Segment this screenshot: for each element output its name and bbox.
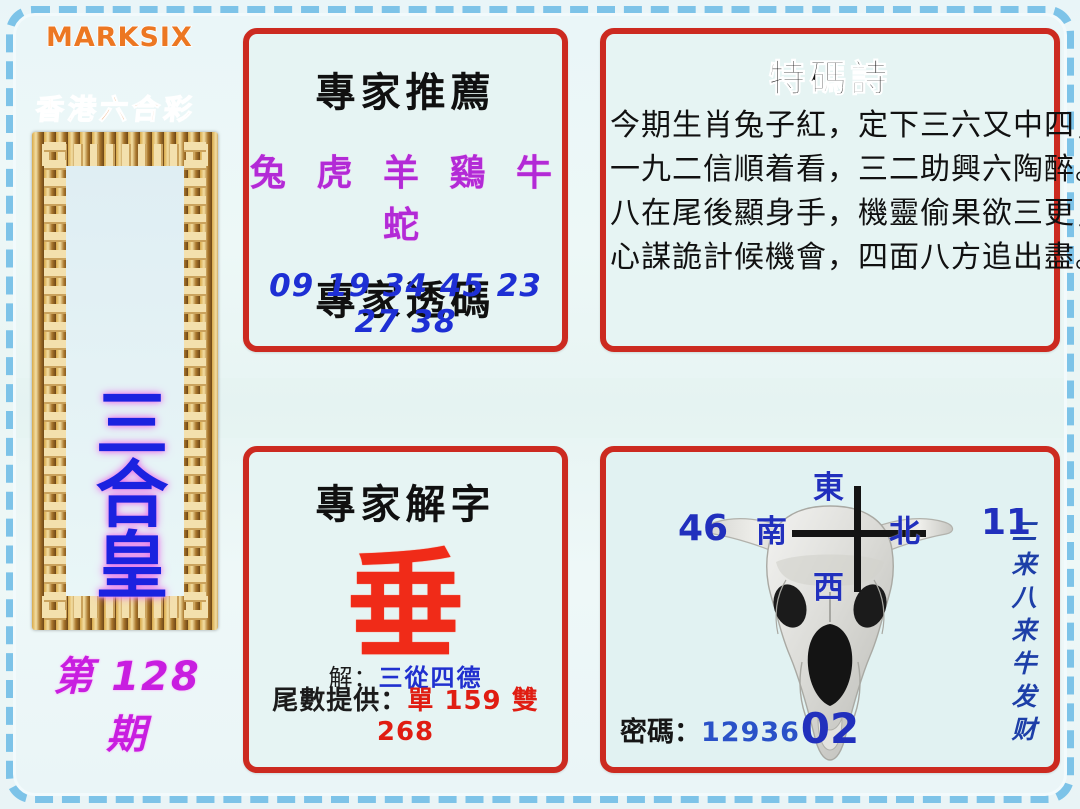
issue-period-label: 第 128 期	[32, 644, 222, 760]
direction-east: 東	[813, 462, 844, 507]
compass-cross-vertical	[854, 486, 861, 592]
featured-character: 垂	[249, 546, 562, 664]
tail-number-label: 尾數提供：	[272, 686, 407, 716]
scroll-inner-area: 三合皇	[66, 166, 184, 596]
direction-west: 西	[813, 562, 844, 607]
ornate-scroll-frame: 三合皇	[32, 132, 218, 630]
poem-title: 特碼詩	[606, 48, 1054, 102]
brand-chinese-logo: 香港六合彩	[34, 88, 198, 128]
secret-code-value: 12936	[701, 717, 800, 748]
number-bottom: 02	[801, 704, 859, 753]
panel-skull-compass: 東 南 北 西 46 11 02 二来八来牛发财 密碼：12936	[600, 446, 1060, 773]
vertical-lucky-phrase: 二来八来牛发财	[1004, 518, 1040, 749]
expert-recommendation-title: 專家推薦	[249, 60, 562, 118]
scroll-title-text: 三合皇	[90, 385, 160, 598]
secret-code-label: 密碼：	[620, 717, 701, 748]
poem-line: 今期生肖兔子紅，定下三六又中四，	[610, 104, 1050, 148]
secret-code-row: 密碼：12936	[620, 710, 800, 749]
tail-number-row: 尾數提供：單 159 雙 268	[249, 680, 562, 747]
panel-special-code-poem: 特碼詩 今期生肖兔子紅，定下三六又中四， 一九二信順着看，三二助興六陶醉。 八在…	[600, 28, 1060, 352]
direction-north: 北	[889, 506, 920, 551]
panel-expert-recommendation: 專家推薦 兔 虎 羊 鷄 牛 蛇 專家透碼 09 19 34 45 23 27 …	[243, 28, 568, 352]
poem-line: 八在尾後顯身手，機靈偷果欲三更，	[610, 192, 1050, 236]
scroll-right-trim	[184, 142, 206, 620]
poem-line: 一九二信順着看，三二助興六陶醉。	[610, 148, 1050, 192]
skull-scene: 東 南 北 西 46 11 02 二来八来牛发财 密碼：12936	[606, 452, 1054, 767]
page-root: MARKSIX 香港六合彩 三合皇 第 128 期 專家推薦 兔 虎 羊 鷄 牛…	[0, 0, 1080, 809]
brand-column: MARKSIX 香港六合彩 三合皇 第 128 期	[18, 14, 232, 734]
recommended-numbers: 09 19 34 45 23 27 38	[249, 268, 562, 340]
expert-character-title: 專家解字	[249, 472, 562, 530]
direction-south: 南	[756, 506, 787, 551]
poem-body: 今期生肖兔子紅，定下三六又中四， 一九二信順着看，三二助興六陶醉。 八在尾後顯身…	[606, 104, 1054, 280]
poem-line: 心謀詭計候機會，四面八方追出盡。	[610, 236, 1050, 280]
brand-english-logo: MARKSIX	[46, 22, 193, 53]
panel-expert-character: 專家解字 垂 解：三從四德 尾數提供：單 159 雙 268	[243, 446, 568, 773]
number-left: 46	[678, 508, 728, 549]
zodiac-list: 兔 虎 羊 鷄 牛 蛇	[249, 144, 562, 248]
scroll-left-trim	[44, 142, 66, 620]
